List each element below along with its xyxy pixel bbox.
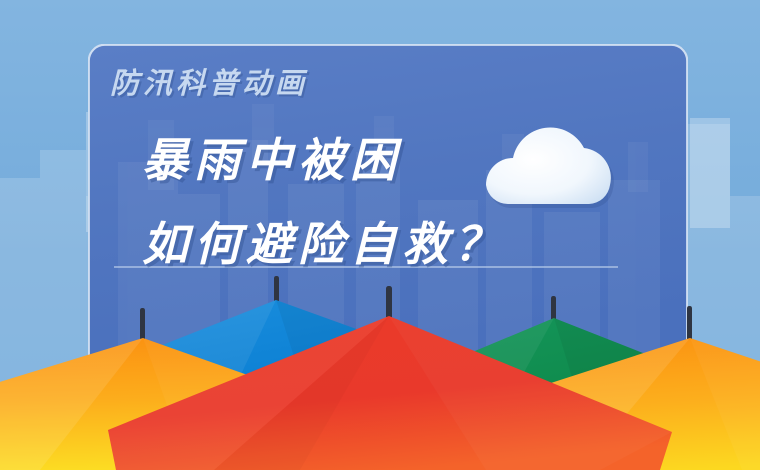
poster-canvas: 防汛科普动画 暴雨中被困 如何避险自救？ (0, 0, 760, 470)
umbrella-layer (0, 0, 760, 470)
